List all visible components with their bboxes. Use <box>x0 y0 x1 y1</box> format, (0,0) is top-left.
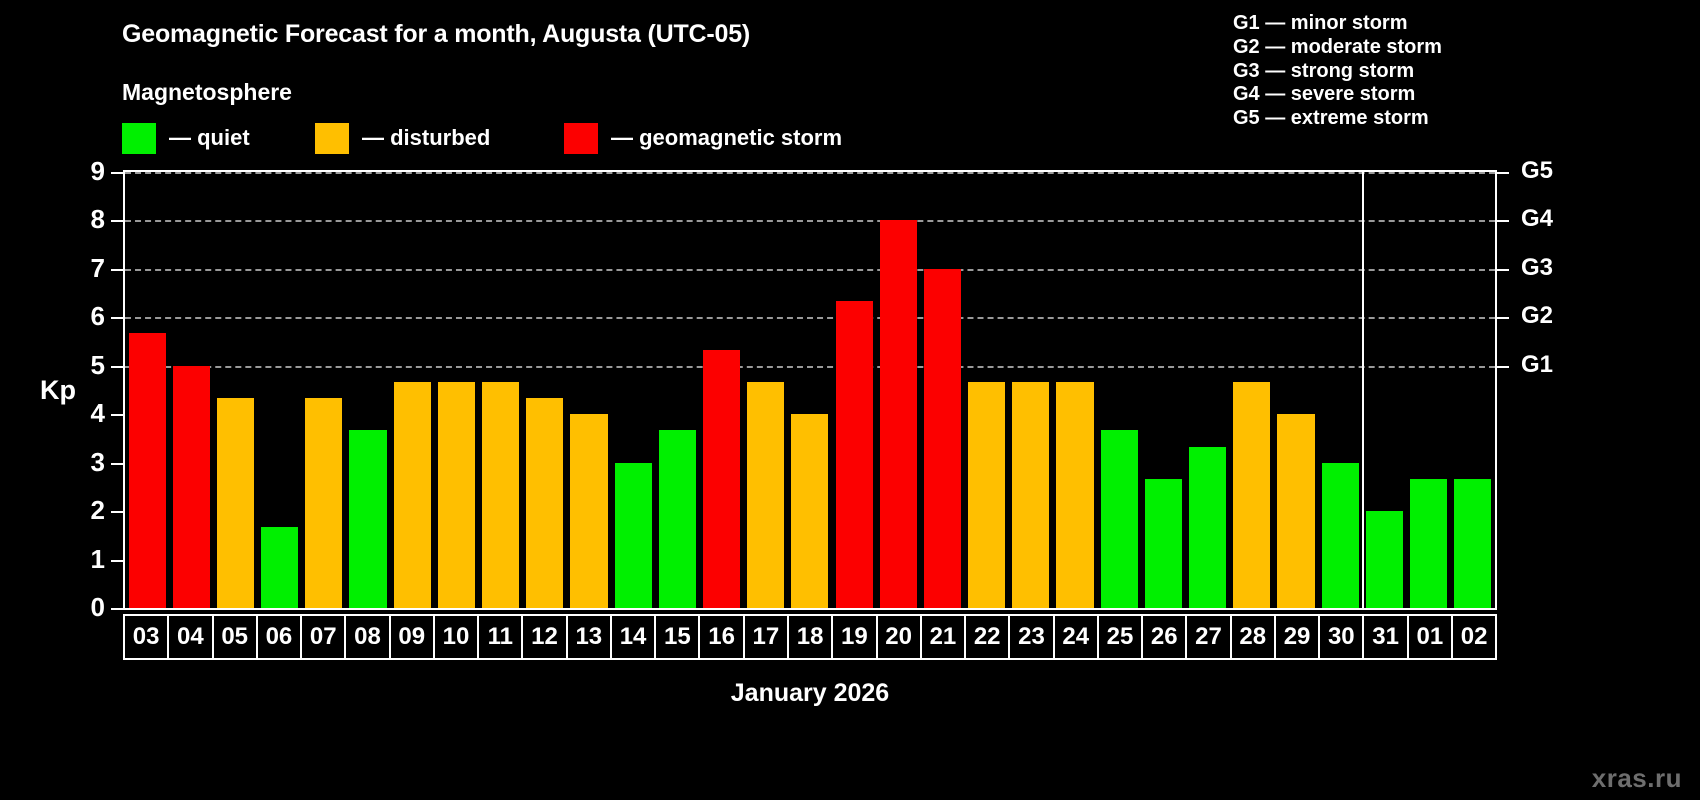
plot-area <box>123 170 1497 610</box>
g-axis-label-G3: G3 <box>1521 254 1553 282</box>
bar-slot-15[interactable] <box>655 172 699 608</box>
y-tick-mark-1 <box>111 560 123 562</box>
day-label-03[interactable]: 03 <box>125 616 169 658</box>
day-label-22[interactable]: 22 <box>966 616 1010 658</box>
bar-26[interactable] <box>1145 479 1182 608</box>
bar-slot-31[interactable] <box>1362 172 1406 608</box>
bar-slot-21[interactable] <box>920 172 964 608</box>
day-label-28[interactable]: 28 <box>1232 616 1276 658</box>
g-axis-label-G1: G1 <box>1521 351 1553 379</box>
bar-29[interactable] <box>1277 414 1314 608</box>
bar-slot-05[interactable] <box>213 172 257 608</box>
y-tick-mark-7 <box>111 269 123 271</box>
y-tick-label-1: 1 <box>65 544 105 575</box>
g-axis-label-G2: G2 <box>1521 302 1553 330</box>
bar-slot-14[interactable] <box>611 172 655 608</box>
legend-swatch-quiet <box>122 123 156 154</box>
g-scale-legend-row-1: G1 — minor storm <box>1233 12 1442 36</box>
g-axis-tick-mark-G3 <box>1497 269 1509 271</box>
bar-21[interactable] <box>924 269 961 608</box>
y-tick-label-8: 8 <box>65 204 105 235</box>
day-label-10[interactable]: 10 <box>435 616 479 658</box>
day-label-20[interactable]: 20 <box>878 616 922 658</box>
bar-09[interactable] <box>394 382 431 608</box>
bar-slot-29[interactable] <box>1274 172 1318 608</box>
g-scale-legend-row-2: G2 — moderate storm <box>1233 36 1442 60</box>
bar-slot-23[interactable] <box>1009 172 1053 608</box>
g-scale-legend-row-3: G3 — strong storm <box>1233 60 1442 84</box>
bar-slot-19[interactable] <box>832 172 876 608</box>
bar-slot-08[interactable] <box>346 172 390 608</box>
y-tick-mark-3 <box>111 463 123 465</box>
legend-item-storm: — geomagnetic storm <box>564 123 842 154</box>
y-tick-label-0: 0 <box>65 592 105 623</box>
page-title: Geomagnetic Forecast for a month, August… <box>122 20 750 49</box>
bar-slot-28[interactable] <box>1230 172 1274 608</box>
y-tick-mark-9 <box>111 172 123 174</box>
bar-04[interactable] <box>173 366 210 608</box>
y-tick-mark-4 <box>111 414 123 416</box>
bar-slot-25[interactable] <box>1097 172 1141 608</box>
day-label-13[interactable]: 13 <box>568 616 612 658</box>
day-label-06[interactable]: 06 <box>258 616 302 658</box>
bar-20[interactable] <box>880 220 917 608</box>
bar-slot-17[interactable] <box>744 172 788 608</box>
g-axis-tick-mark-G4 <box>1497 220 1509 222</box>
bar-slot-03[interactable] <box>125 172 169 608</box>
legend-label-storm: — geomagnetic storm <box>611 125 842 151</box>
bar-slot-26[interactable] <box>1141 172 1185 608</box>
y-tick-mark-2 <box>111 511 123 513</box>
bar-25[interactable] <box>1101 430 1138 608</box>
bar-slot-04[interactable] <box>169 172 213 608</box>
day-label-12[interactable]: 12 <box>523 616 567 658</box>
g-axis-tick-mark-G5 <box>1497 172 1509 174</box>
day-label-18[interactable]: 18 <box>789 616 833 658</box>
day-label-19[interactable]: 19 <box>833 616 877 658</box>
bar-14[interactable] <box>615 463 652 608</box>
g-axis-label-G4: G4 <box>1521 205 1553 233</box>
day-label-09[interactable]: 09 <box>391 616 435 658</box>
bar-11[interactable] <box>482 382 519 608</box>
bar-12[interactable] <box>526 398 563 608</box>
bar-slot-22[interactable] <box>965 172 1009 608</box>
bars-layer <box>125 172 1495 608</box>
day-label-08[interactable]: 08 <box>346 616 390 658</box>
day-label-24[interactable]: 24 <box>1055 616 1099 658</box>
day-label-11[interactable]: 11 <box>479 616 523 658</box>
g-axis-tick-mark-G2 <box>1497 317 1509 319</box>
y-tick-label-5: 5 <box>65 350 105 381</box>
bar-30[interactable] <box>1322 463 1359 608</box>
bar-03[interactable] <box>129 333 166 608</box>
bar-slot-01[interactable] <box>1406 172 1450 608</box>
day-label-23[interactable]: 23 <box>1010 616 1054 658</box>
bar-slot-13[interactable] <box>567 172 611 608</box>
day-label-15[interactable]: 15 <box>656 616 700 658</box>
bar-slot-12[interactable] <box>523 172 567 608</box>
day-label-07[interactable]: 07 <box>302 616 346 658</box>
y-tick-label-7: 7 <box>65 253 105 284</box>
bar-16[interactable] <box>703 350 740 608</box>
bar-slot-07[interactable] <box>302 172 346 608</box>
legend-label-disturbed: — disturbed <box>362 125 490 151</box>
day-label-26[interactable]: 26 <box>1143 616 1187 658</box>
g-scale-legend-row-4: G4 — severe storm <box>1233 83 1442 107</box>
legend-item-quiet: — quiet <box>122 123 250 154</box>
bar-10[interactable] <box>438 382 475 608</box>
bar-slot-02[interactable] <box>1451 172 1495 608</box>
bar-22[interactable] <box>968 382 1005 608</box>
day-label-21[interactable]: 21 <box>922 616 966 658</box>
y-tick-mark-0 <box>111 608 123 610</box>
day-label-16[interactable]: 16 <box>700 616 744 658</box>
y-tick-label-6: 6 <box>65 301 105 332</box>
y-tick-label-9: 9 <box>65 156 105 187</box>
bar-slot-10[interactable] <box>434 172 478 608</box>
bar-slot-24[interactable] <box>1053 172 1097 608</box>
x-axis-title: January 2026 <box>123 679 1497 708</box>
bar-07[interactable] <box>305 398 342 608</box>
day-label-01[interactable]: 01 <box>1409 616 1453 658</box>
day-label-25[interactable]: 25 <box>1099 616 1143 658</box>
y-tick-label-2: 2 <box>65 495 105 526</box>
bar-slot-06[interactable] <box>258 172 302 608</box>
bar-slot-30[interactable] <box>1318 172 1362 608</box>
y-tick-mark-6 <box>111 317 123 319</box>
bar-24[interactable] <box>1056 382 1093 608</box>
day-label-04[interactable]: 04 <box>169 616 213 658</box>
y-tick-mark-8 <box>111 220 123 222</box>
bar-slot-20[interactable] <box>876 172 920 608</box>
bar-slot-18[interactable] <box>788 172 832 608</box>
y-tick-label-3: 3 <box>65 447 105 478</box>
g-axis-label-G5: G5 <box>1521 157 1553 185</box>
legend-swatch-disturbed <box>315 123 349 154</box>
watermark: xras.ru <box>1592 763 1682 794</box>
day-label-05[interactable]: 05 <box>214 616 258 658</box>
bar-27[interactable] <box>1189 447 1226 608</box>
bar-28[interactable] <box>1233 382 1270 608</box>
day-label-14[interactable]: 14 <box>612 616 656 658</box>
bar-15[interactable] <box>659 430 696 608</box>
day-label-30[interactable]: 30 <box>1320 616 1364 658</box>
g-scale-legend: G1 — minor stormG2 — moderate stormG3 — … <box>1233 12 1442 131</box>
day-label-31[interactable]: 31 <box>1364 616 1408 658</box>
bar-slot-27[interactable] <box>1186 172 1230 608</box>
day-label-17[interactable]: 17 <box>745 616 789 658</box>
bar-slot-09[interactable] <box>390 172 434 608</box>
bar-01[interactable] <box>1410 479 1447 608</box>
bar-13[interactable] <box>570 414 607 608</box>
g-axis-tick-mark-G1 <box>1497 366 1509 368</box>
bar-19[interactable] <box>836 301 873 608</box>
y-tick-mark-5 <box>111 366 123 368</box>
bar-slot-11[interactable] <box>479 172 523 608</box>
bar-slot-16[interactable] <box>699 172 743 608</box>
bar-18[interactable] <box>791 414 828 608</box>
y-tick-label-4: 4 <box>65 398 105 429</box>
forecast-divider-line <box>1362 172 1364 608</box>
legend-swatch-storm <box>564 123 598 154</box>
day-label-02[interactable]: 02 <box>1453 616 1495 658</box>
bar-02[interactable] <box>1454 479 1491 608</box>
day-label-27[interactable]: 27 <box>1187 616 1231 658</box>
bar-31[interactable] <box>1366 511 1403 608</box>
bar-23[interactable] <box>1012 382 1049 608</box>
bar-08[interactable] <box>349 430 386 608</box>
legend-label-quiet: — quiet <box>169 125 250 151</box>
g-scale-legend-row-5: G5 — extreme storm <box>1233 107 1442 131</box>
bar-05[interactable] <box>217 398 254 608</box>
day-axis: 0304050607080910111213141516171819202122… <box>123 614 1497 660</box>
bar-06[interactable] <box>261 527 298 608</box>
day-label-29[interactable]: 29 <box>1276 616 1320 658</box>
magnetosphere-label: Magnetosphere <box>122 79 292 106</box>
legend-item-disturbed: — disturbed <box>315 123 490 154</box>
bar-17[interactable] <box>747 382 784 608</box>
